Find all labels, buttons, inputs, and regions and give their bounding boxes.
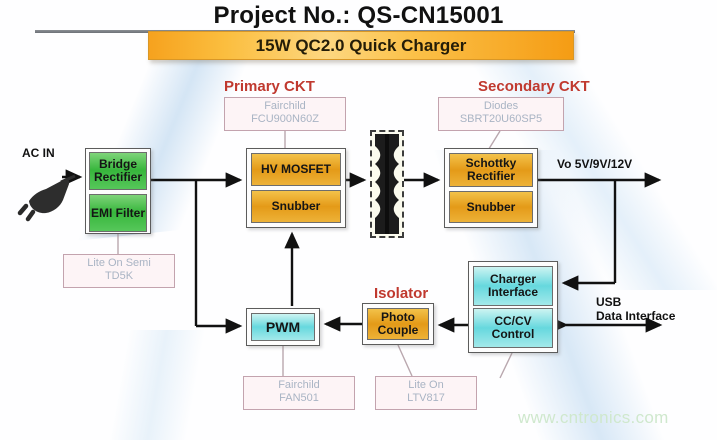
label-usb-line2: Data Interface xyxy=(596,309,675,323)
block-group-secondary[interactable]: Schottky Rectifier Snubber xyxy=(444,148,538,228)
ac-plug-icon xyxy=(17,162,79,222)
label-usb-data-interface: USB Data Interface xyxy=(596,295,675,323)
block-bridge-rectifier[interactable]: Bridge Rectifier xyxy=(89,152,147,190)
block-group-isolator[interactable]: Photo Couple xyxy=(362,303,434,345)
transformer-symbol xyxy=(370,130,404,238)
block-group-pwm[interactable]: PWM xyxy=(246,308,320,346)
block-group-input-stage[interactable]: Bridge Rectifier EMI Filter xyxy=(85,148,151,234)
block-schottky-rectifier[interactable]: Schottky Rectifier xyxy=(449,153,533,187)
diagram-canvas: Project No.: QS-CN15001 15W QC2.0 Quick … xyxy=(0,0,717,440)
block-cccv-control[interactable]: CC/CV Control xyxy=(473,308,553,348)
block-snubber-secondary[interactable]: Snubber xyxy=(449,191,533,223)
label-vo-output: Vo 5V/9V/12V xyxy=(557,157,632,171)
label-ac-in: AC IN xyxy=(22,146,55,160)
block-snubber-primary[interactable]: Snubber xyxy=(251,190,341,223)
block-photo-couple[interactable]: Photo Couple xyxy=(367,308,429,340)
site-watermark: www.cntronics.com xyxy=(518,408,669,428)
block-charger-interface[interactable]: Charger Interface xyxy=(473,266,553,306)
block-group-primary[interactable]: HV MOSFET Snubber xyxy=(246,148,346,228)
block-hv-mosfet[interactable]: HV MOSFET xyxy=(251,153,341,186)
block-pwm[interactable]: PWM xyxy=(251,313,315,341)
label-usb-line1: USB xyxy=(596,295,621,309)
block-group-output-control[interactable]: Charger Interface CC/CV Control xyxy=(468,261,558,353)
block-emi-filter[interactable]: EMI Filter xyxy=(89,194,147,232)
